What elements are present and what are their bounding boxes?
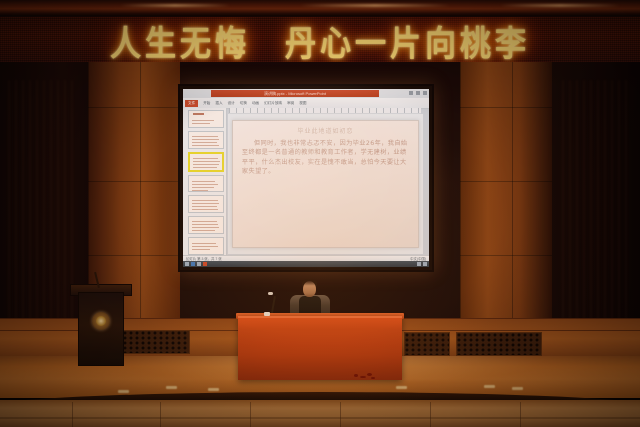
thumbnail-line (192, 120, 214, 121)
auditorium-stage-photo: 人生无悔 丹心一片向桃李 演讲稿.pptx - Microsoft PowerP… (0, 0, 640, 427)
cable-segment (367, 373, 372, 376)
tab-animations[interactable]: 动画 (252, 101, 259, 106)
thumbnail-line (192, 145, 219, 146)
apron-seam (340, 402, 341, 427)
close-icon[interactable] (423, 91, 427, 95)
wall-vent-grille (122, 330, 190, 354)
thumbnail-line (192, 212, 207, 213)
institution-emblem (92, 312, 110, 330)
minimize-icon[interactable] (409, 91, 413, 95)
thumbnail-line (193, 167, 217, 168)
start-button-icon[interactable] (185, 262, 189, 266)
slide-thumbnail[interactable]: 1 (188, 110, 224, 128)
tab-review[interactable]: 审阅 (287, 101, 294, 106)
slide-thumbnail-panel[interactable]: 1 2 3 (183, 108, 227, 255)
thumbnail-line (192, 148, 206, 149)
slide-thumbnail[interactable]: 2 (188, 131, 224, 149)
floor-marker (118, 390, 129, 393)
apron-seam (250, 402, 251, 427)
ceiling-light-slot (300, 4, 450, 7)
slide-thumbnail[interactable]: 6 (188, 216, 224, 234)
thumbnail-line (193, 170, 205, 171)
thumbnail-line (192, 187, 214, 188)
thumbnail-line (192, 243, 216, 244)
ceiling-trim (0, 0, 640, 16)
side-curtain-left (8, 80, 78, 330)
floor-marker (512, 387, 523, 390)
slide-body-text: 但同时，我也非常忐忑不安，因为毕业26年，我自始至终都是一名普通的教师和教育工作… (242, 139, 409, 177)
floor-marker (166, 386, 177, 389)
projection-screen: 演讲稿.pptx - Microsoft PowerPoint 文件 开始 插入… (178, 84, 434, 272)
tray-icon[interactable] (417, 262, 421, 266)
taskbar-app-icon[interactable] (191, 262, 195, 266)
slide-title: 毕业此地道如初恋 (242, 126, 409, 135)
thumbnail-line (192, 181, 215, 182)
cable-segment (371, 377, 375, 379)
wall-vent-grille (456, 332, 542, 356)
window-controls[interactable] (409, 91, 427, 95)
window-title: 演讲稿.pptx - Microsoft PowerPoint (211, 90, 379, 97)
thumbnail-line (192, 209, 218, 210)
thumbnail-line (192, 246, 218, 247)
taskbar-app-icon[interactable] (197, 262, 201, 266)
current-slide[interactable]: 毕业此地道如初恋 但同时，我也非常忐忑不安，因为毕业26年，我自始至终都是一名普… (232, 120, 419, 249)
tray-clock-icon[interactable] (423, 262, 427, 266)
desk-item (264, 312, 270, 316)
slide-thumbnail[interactable]: 7 (188, 237, 224, 255)
desk-microphone-icon (268, 292, 273, 295)
thumbnail-line (192, 227, 219, 228)
tab-slideshow[interactable]: 幻灯片放映 (264, 101, 282, 106)
ceiling-light-slot (500, 4, 620, 7)
tab-design[interactable]: 设计 (228, 101, 235, 106)
wood-panel-right (460, 62, 552, 330)
windows-taskbar[interactable] (183, 261, 429, 267)
thumbnail-line (192, 221, 217, 222)
ceiling-light-slot (120, 4, 230, 7)
powerpoint-titlebar: 演讲稿.pptx - Microsoft PowerPoint (183, 89, 429, 98)
side-curtain-right (562, 80, 632, 330)
thumbnail-line (192, 136, 218, 137)
thumbnail-line (192, 123, 210, 124)
cable-segment (354, 374, 358, 377)
slide-thumbnail[interactable]: 4 (188, 175, 224, 193)
thumbnail-line (192, 249, 210, 250)
thumbnail-title-bar (193, 113, 204, 115)
apron-band (0, 417, 640, 419)
thumbnail-line (192, 184, 218, 185)
apron-seam (430, 402, 431, 427)
thumbnail-line (192, 230, 215, 231)
thumbnail-line (192, 206, 217, 207)
apron-seam (160, 402, 161, 427)
led-banner: 人生无悔 丹心一片向桃李 (0, 16, 640, 65)
thumbnail-line (193, 164, 219, 165)
tab-transitions[interactable]: 切换 (240, 101, 247, 106)
tab-view[interactable]: 视图 (299, 101, 306, 106)
thumbnail-line (193, 158, 218, 159)
slide-editing-area[interactable]: 毕业此地道如初恋 但同时，我也非常忐忑不安，因为毕业26年，我自始至终都是一名普… (228, 114, 423, 254)
apron-seam (520, 402, 521, 427)
stage-apron (0, 400, 640, 427)
floor-marker (208, 388, 219, 391)
thumbnail-line (192, 224, 218, 225)
speaker-head (303, 281, 316, 297)
tab-file[interactable]: 文件 (185, 100, 198, 107)
tab-home[interactable]: 开始 (203, 101, 210, 106)
thumbnail-line (193, 161, 220, 162)
apron-seam (72, 402, 73, 427)
floor-marker (484, 385, 495, 388)
floor-cable-cluster (352, 370, 378, 380)
cable-segment (360, 376, 366, 378)
projected-desktop: 演讲稿.pptx - Microsoft PowerPoint 文件 开始 插入… (183, 89, 429, 267)
thumbnail-line (192, 142, 217, 143)
wall-vent-grille (404, 332, 450, 356)
tab-insert[interactable]: 插入 (215, 101, 222, 106)
floor-marker (396, 386, 407, 389)
taskbar-powerpoint-icon[interactable] (203, 262, 207, 266)
thumbnail-line (192, 190, 208, 191)
thumbnail-line (192, 200, 218, 201)
thumbnail-line (192, 203, 219, 204)
slide-thumbnail-selected[interactable]: 3 (188, 152, 224, 172)
thumbnail-line (192, 139, 219, 140)
slide-thumbnail[interactable]: 5 (188, 195, 224, 213)
led-banner-text: 人生无悔 丹心一片向桃李 (110, 16, 530, 65)
maximize-icon[interactable] (416, 91, 420, 95)
thumbnail-line (192, 233, 209, 234)
